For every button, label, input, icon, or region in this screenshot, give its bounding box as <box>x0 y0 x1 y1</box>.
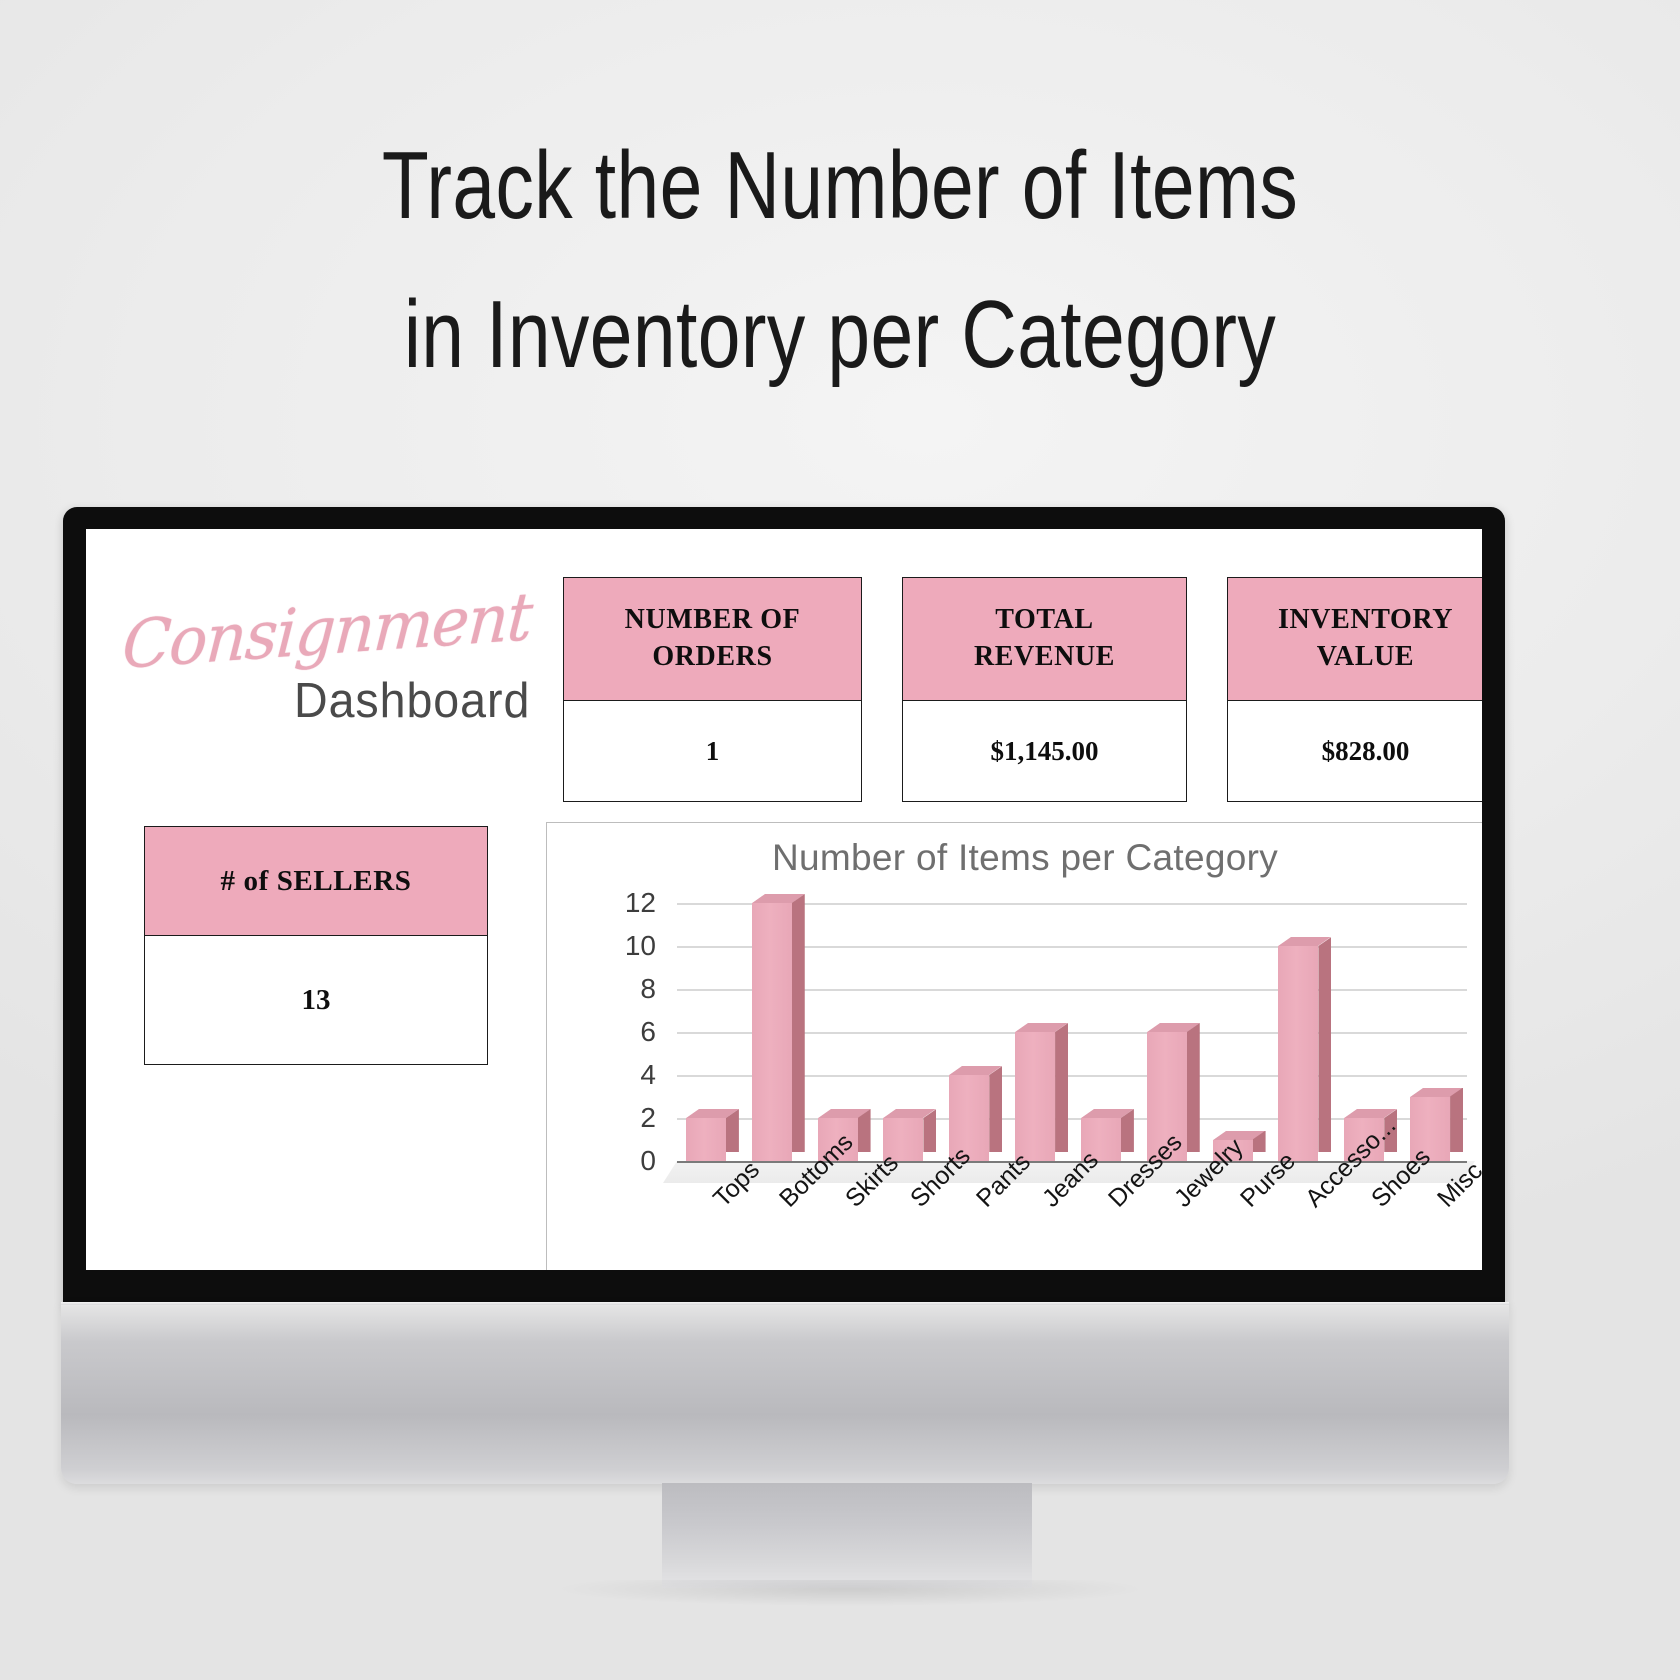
chart-y-tick-label: 4 <box>640 1059 672 1091</box>
kpi-card-number-of-orders: NUMBER OF ORDERS 1 <box>563 577 862 802</box>
monitor-screen: Consignment Dashboard NUMBER OF ORDERS 1… <box>86 529 1482 1270</box>
kpi-label-line-2: REVENUE <box>974 639 1115 676</box>
monitor-frame: Consignment Dashboard NUMBER OF ORDERS 1… <box>63 507 1505 1306</box>
chart-panel: Number of Items per Category 024681012 T… <box>546 822 1482 1270</box>
chart-title: Number of Items per Category <box>547 837 1482 879</box>
monitor-stand-neck <box>662 1483 1032 1588</box>
kpi-value-number-of-orders: 1 <box>564 701 861 801</box>
chart-bar-side-face <box>1318 937 1331 1152</box>
chart-bar <box>1015 1032 1055 1161</box>
brand-logo-script: Consignment <box>120 578 534 684</box>
chart-bar-side-face <box>792 894 805 1152</box>
chart-y-tick-label: 8 <box>640 973 672 1005</box>
chart-bar <box>752 903 792 1161</box>
chart-bar <box>1278 946 1318 1161</box>
chart-y-tick-label: 2 <box>640 1102 672 1134</box>
kpi-card-number-of-sellers: # of SELLERS 13 <box>144 826 488 1065</box>
chart-y-tick-label: 10 <box>625 930 672 962</box>
kpi-card-header: TOTAL REVENUE <box>903 578 1186 701</box>
kpi-label-line-2: ORDERS <box>625 639 801 676</box>
kpi-card-header: NUMBER OF ORDERS <box>564 578 861 701</box>
chart-plot-area: 024681012 TopsBottomsSkirtsShortsPantsJe… <box>677 903 1467 1161</box>
brand-logo-subtitle: Dashboard <box>294 673 530 729</box>
page-title-line-2: in Inventory per Category <box>168 261 1512 410</box>
chart-y-tick-label: 0 <box>640 1145 672 1177</box>
kpi-value-total-revenue: $1,145.00 <box>903 701 1186 801</box>
monitor-chin <box>61 1302 1509 1484</box>
kpi-value-inventory-value: $828.00 <box>1228 701 1482 801</box>
kpi-card-header: # of SELLERS <box>145 827 487 936</box>
chart-bar <box>686 1118 726 1161</box>
chart-y-tick-label: 12 <box>625 887 672 919</box>
kpi-card-header: INVENTORY VALUE <box>1228 578 1482 701</box>
kpi-label-line-1: INVENTORY <box>1278 602 1453 639</box>
chart-bar-side-face <box>1450 1088 1463 1153</box>
brand-logo: Consignment Dashboard <box>116 607 556 747</box>
chart-y-tick-label: 6 <box>640 1016 672 1048</box>
chart-bar-side-face <box>989 1066 1002 1152</box>
monitor-base-shadow <box>560 1580 1140 1606</box>
chart-bar-side-face <box>1187 1023 1200 1152</box>
kpi-label-line-1: TOTAL <box>974 602 1115 639</box>
chart-bar-side-face <box>1055 1023 1068 1152</box>
page-title: Track the Number of Items in Inventory p… <box>168 112 1512 410</box>
kpi-card-inventory-value: INVENTORY VALUE $828.00 <box>1227 577 1482 802</box>
kpi-label-line-2: VALUE <box>1278 639 1453 676</box>
kpi-value-number-of-sellers: 13 <box>145 936 487 1064</box>
kpi-card-total-revenue: TOTAL REVENUE $1,145.00 <box>902 577 1187 802</box>
kpi-label-line-1: NUMBER OF <box>625 602 801 639</box>
page-title-line-1: Track the Number of Items <box>168 112 1512 261</box>
